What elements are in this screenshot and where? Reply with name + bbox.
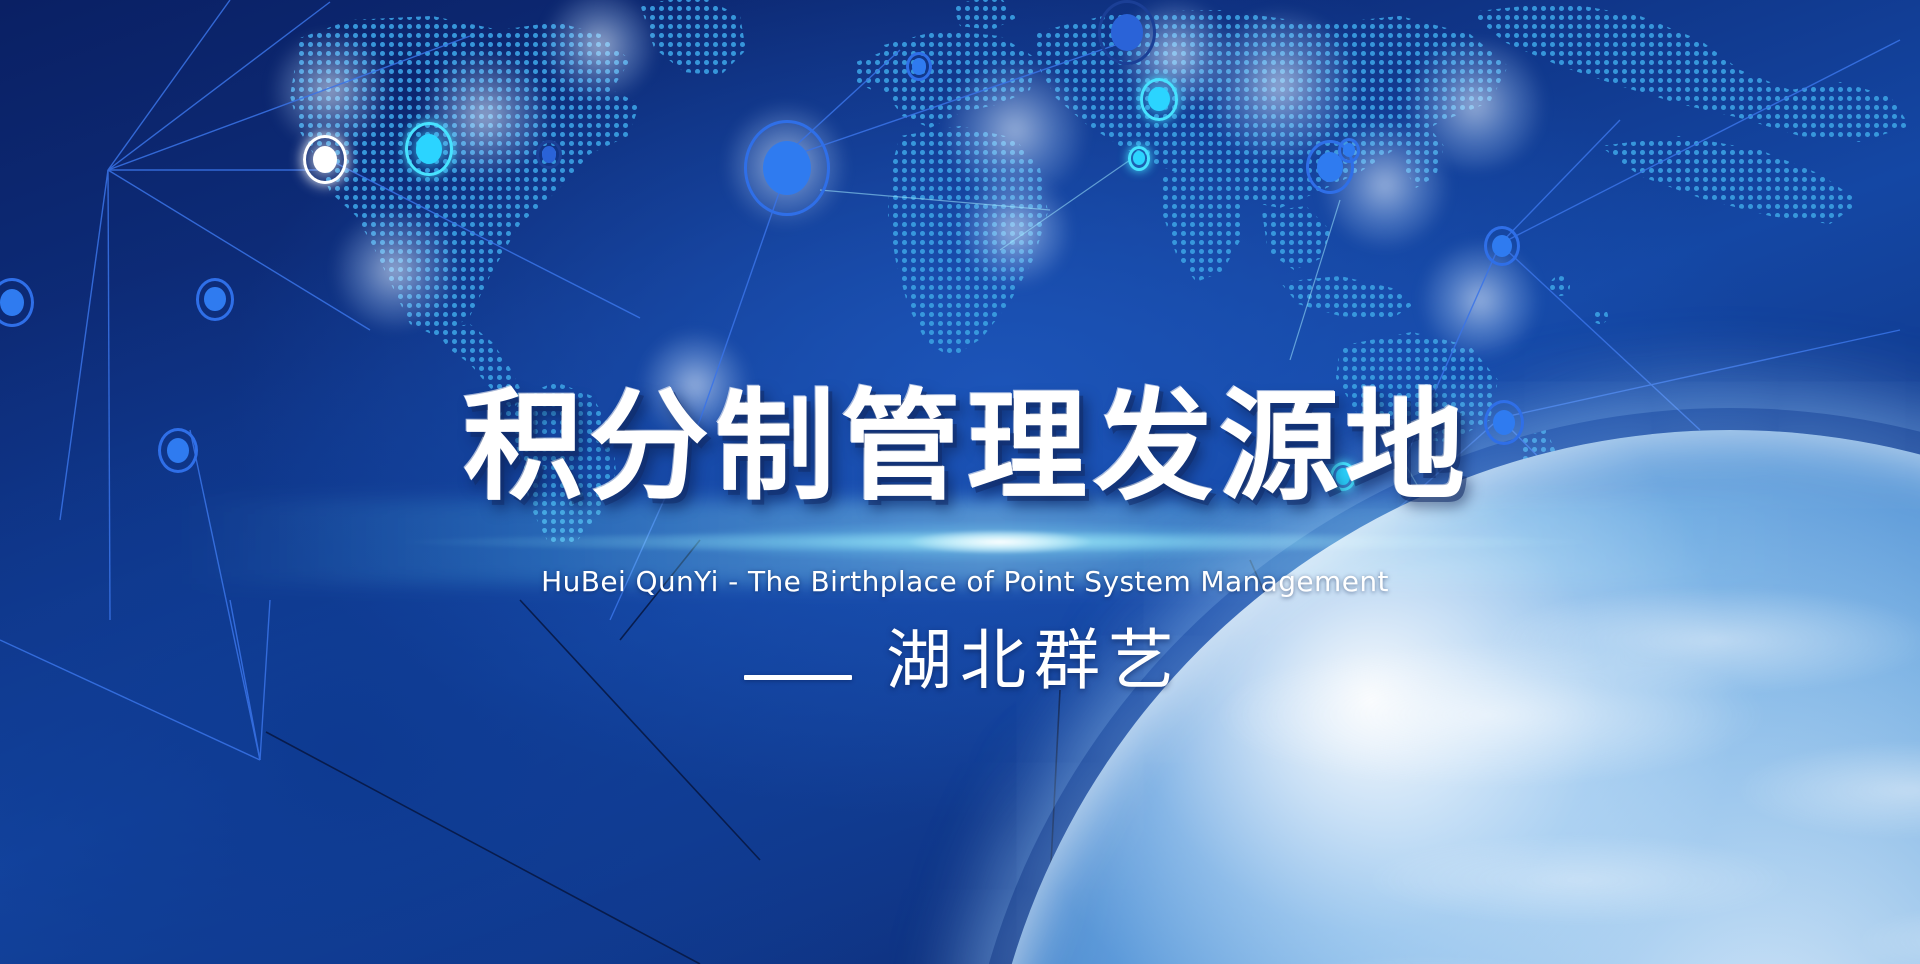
earth-limb-glow: [980, 430, 1920, 964]
node-europe-north: [906, 52, 932, 81]
node-ring: [1140, 78, 1178, 121]
node-core: [1343, 143, 1355, 157]
node-left-edge: [0, 278, 34, 327]
node-left-lower: [158, 428, 198, 473]
node-asia-mid: [1140, 78, 1178, 121]
node-core: [0, 289, 24, 317]
map-glow-9: [1320, 120, 1450, 250]
map-glow-12: [960, 170, 1070, 290]
map-glow-5: [940, 60, 1090, 200]
node-core: [1317, 152, 1344, 182]
node-ring: [536, 140, 562, 169]
brand-dash-icon: [744, 675, 852, 680]
hero-banner: 积分制管理发源地 HuBei QunYi - The Birthplace of…: [0, 0, 1920, 964]
node-ring: [158, 428, 198, 473]
node-ring: [1484, 400, 1524, 445]
map-glow-10: [1420, 240, 1540, 360]
node-pacific-east: [1484, 226, 1520, 266]
node-north-america-east: [405, 122, 453, 176]
node-asia-south: [1128, 146, 1150, 171]
map-glow-7: [1400, 40, 1550, 170]
node-core: [1492, 235, 1512, 258]
node-core: [1148, 87, 1169, 111]
brand-name: 湖北群艺: [886, 620, 1182, 703]
node-core: [1493, 410, 1515, 435]
node-core: [912, 58, 927, 74]
node-ring: [1338, 138, 1360, 163]
node-ring: [1484, 226, 1520, 266]
map-glow-6: [1200, 10, 1360, 160]
node-atlantic: [196, 278, 234, 321]
node-core: [542, 146, 557, 162]
node-ring: [0, 278, 34, 327]
node-ring: [906, 52, 932, 81]
node-ring: [1306, 140, 1354, 194]
map-glow-2: [420, 50, 550, 180]
node-right-lower: [1484, 400, 1524, 445]
map-glow-4: [726, 100, 846, 230]
node-ring: [744, 120, 830, 216]
map-glow-1: [270, 30, 390, 150]
node-ring: [1128, 146, 1150, 171]
node-pacific-large: [1306, 140, 1354, 194]
node-core: [763, 141, 811, 195]
node-ring: [196, 278, 234, 321]
node-europe-core: [744, 120, 830, 216]
node-asia-north: [1098, 0, 1156, 65]
node-core: [313, 146, 338, 174]
map-glow-3: [540, 0, 660, 100]
node-core: [1336, 468, 1351, 484]
node-north-america-west: [303, 135, 347, 184]
node-right-glow: [1330, 462, 1356, 491]
node-ring: [1330, 462, 1356, 491]
node-core: [204, 287, 225, 311]
node-core: [167, 438, 189, 463]
node-pacific-small: [1338, 138, 1360, 163]
node-core: [1133, 151, 1145, 165]
earth-globe: [980, 430, 1920, 964]
map-glow-13: [1115, 0, 1235, 110]
node-ring: [1098, 0, 1156, 65]
node-ring: [303, 135, 347, 184]
node-ring: [405, 122, 453, 176]
node-greenland: [536, 140, 562, 169]
node-core: [416, 134, 443, 164]
node-core: [1111, 14, 1143, 50]
map-glow-11: [640, 330, 750, 440]
map-glow-8: [330, 210, 460, 330]
